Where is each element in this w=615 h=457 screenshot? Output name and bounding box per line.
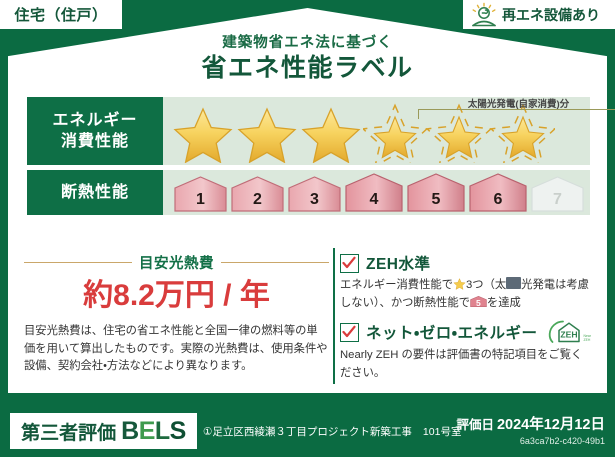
section-divider [333,248,335,384]
heading-rule-right [221,262,329,264]
utility-cost-note: 目安光熱費は、住宅の省エネ性能と全国一律の燃料等の単価を用いて算出したものです。… [24,323,329,376]
zeh-section: ZEH水準 エネルギー消費性能で3つ（太光発電は考慮しない）、かつ断熱性能で5を… [340,252,592,390]
insulation-level-5: 5 [406,172,466,213]
bels-logo: BELS [121,417,186,446]
star-icon-mini [453,277,466,290]
insulation-level-1: 1 [173,175,228,213]
insulation-level-number: 2 [230,191,285,209]
evaluation-date-label: 評価日 [456,418,494,432]
redacted-character [506,277,521,289]
svg-text:ZEH: ZEH [560,330,577,340]
evaluation-date-value: 2024年12月12日 [497,417,605,433]
property-name: ①足立区西綾瀬３丁目プロジェクト新築工事 [203,426,412,438]
zeh-standard-heading: ZEH水準 [340,252,592,274]
renewable-equipment-badge: 再エネ設備あり [463,0,615,29]
evaluation-date-block: 評価日2024年12月12日 6a3ca7b2-c420-49b1 [456,413,605,446]
utility-cost-value: 約8.2万円 / 年 [24,278,329,314]
zeh-netzero-checkbox [340,323,359,342]
dwelling-type-label: 住宅（住戸） [14,4,107,25]
insulation-level-number: 6 [468,191,528,209]
sun-energy-icon [469,2,499,28]
check-icon [342,256,356,270]
insulation-performance-row: 断熱性能 1 2 [27,170,590,215]
label-title-block: 建築物省エネ法に基づく 省エネ性能ラベル [0,34,615,83]
dwelling-type-badge: 住宅（住戸） [0,0,122,29]
solar-generation-note: 太陽光発電(自家消費)分 [416,96,615,110]
insulation-level-number: 7 [530,191,585,209]
utility-cost-heading-label: 目安光熱費 [139,252,214,273]
zeh-standard-title: ZEH水準 [366,252,431,274]
insulation-badge-number: 5 [470,298,487,308]
label-subtitle: 建築物省エネ法に基づく [0,34,615,52]
insulation-performance-body: 1 2 3 4 [163,170,590,215]
evaluation-uuid: 6a3ca7b2-c420-49b1 [456,436,605,446]
utility-cost-heading: 目安光熱費 [24,252,329,273]
performance-section: エネルギー 消費性能 太陽光発電(自家消費)分 [27,97,590,220]
insulation-performance-label: 断熱性能 [27,170,163,215]
insulation-level-number: 4 [344,191,404,209]
insulation-level-number: 1 [173,191,228,209]
zeh-standard-block: ZEH水準 エネルギー消費性能で3つ（太光発電は考慮しない）、かつ断熱性能で5を… [340,252,592,312]
heading-rule-left [24,262,132,264]
zeh-standard-text-a: エネルギー消費性能で [340,279,453,291]
third-party-evaluation-label: 第三者評価 [21,418,116,445]
insulation-level-number: 5 [406,191,466,209]
star-icon-filled [171,103,235,163]
zeh-standard-checkbox [340,254,359,273]
star-icon-filled [299,103,363,163]
insulation-level-number: 3 [287,191,342,209]
insulation-level-4: 4 [344,172,404,213]
zeh-standard-text: エネルギー消費性能で3つ（太光発電は考慮しない）、かつ断熱性能で5を達成 [340,277,592,312]
zeh-netzero-title: ネット・ゼロ・エネルギー [366,321,538,343]
property-info: ①足立区西綾瀬３丁目プロジェクト新築工事101号室 [203,424,461,439]
zeh-netzero-block: ネット・ゼロ・エネルギー ZEH Nearly ZEH Nearly ZEH の… [340,320,592,382]
energy-label-root: 住宅（住戸） 再エネ設備あり 建築物省エネ法に基づく 省エネ性 [0,0,615,457]
zeh-logo-icon: ZEH Nearly ZEH [547,320,591,344]
bels-evaluation-badge: 第三者評価 BELS [10,413,197,449]
insulation-level-3: 3 [287,175,342,213]
zeh-netzero-text: Nearly ZEH の要件は評価書の特記項目をご覧ください。 [340,347,592,382]
insulation-badge-mini: 5 [470,295,487,308]
bottom-bar: 第三者評価 BELS ①足立区西綾瀬３丁目プロジェクト新築工事101号室 評価日… [0,405,615,457]
solar-bracket [418,109,615,119]
insulation-level-7: 7 [530,175,585,213]
renewable-equipment-label: 再エネ設備あり [502,5,600,25]
zeh-standard-text-b: 3つ（太 [466,279,506,291]
page-title: 省エネ性能ラベル [0,53,615,83]
svg-text:ZEH: ZEH [583,338,590,342]
energy-performance-label: エネルギー 消費性能 [27,97,163,165]
evaluation-date: 評価日2024年12月12日 [456,413,605,434]
insulation-scale: 1 2 3 4 [173,172,585,213]
star-icon-filled [235,103,299,163]
insulation-level-6: 6 [468,172,528,213]
energy-performance-row: エネルギー 消費性能 太陽光発電(自家消費)分 [27,97,590,165]
zeh-standard-text-d: を達成 [487,297,521,309]
utility-cost-section: 目安光熱費 約8.2万円 / 年 目安光熱費は、住宅の省エネ性能と全国一律の燃料… [24,252,329,376]
check-icon [342,325,356,339]
zeh-netzero-heading: ネット・ゼロ・エネルギー ZEH Nearly ZEH [340,320,592,344]
insulation-level-2: 2 [230,175,285,213]
energy-performance-body: 太陽光発電(自家消費)分 [163,97,590,165]
